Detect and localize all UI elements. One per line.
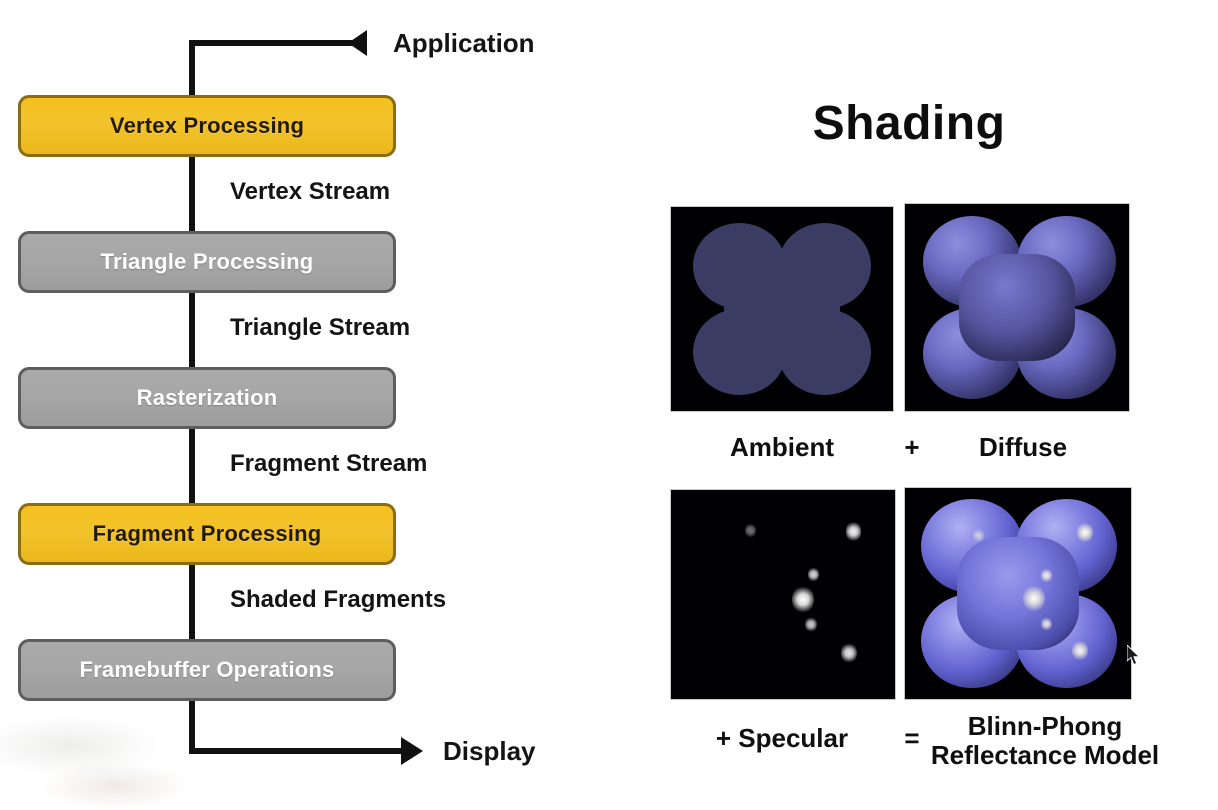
shading-section: Shading xyxy=(620,0,1218,798)
stage-rasterization[interactable]: Rasterization xyxy=(18,367,396,429)
stream-label-shaded-fragments: Shaded Fragments xyxy=(230,586,446,614)
stream-label-triangle: Triangle Stream xyxy=(230,314,410,342)
stage-label: Fragment Processing xyxy=(93,521,322,547)
stage-label: Triangle Processing xyxy=(101,249,314,275)
caption-specular: + Specular xyxy=(660,723,904,754)
ambient-blob-shape xyxy=(671,207,893,411)
render-panel-ambient xyxy=(670,206,894,412)
stage-label: Framebuffer Operations xyxy=(79,657,334,683)
stream-label-vertex: Vertex Stream xyxy=(230,178,390,206)
render-panel-blinn-phong xyxy=(904,487,1132,700)
stage-label: Rasterization xyxy=(137,385,278,411)
application-label: Application xyxy=(393,28,535,59)
application-connector-line xyxy=(189,40,364,46)
display-connector-line xyxy=(189,748,405,754)
video-overlay-smudge xyxy=(0,716,160,776)
stage-framebuffer-operations[interactable]: Framebuffer Operations xyxy=(18,639,396,701)
graphics-pipeline-diagram: Application Display Vertex Processing Tr… xyxy=(0,0,620,798)
application-arrowhead-icon xyxy=(348,30,367,56)
mouse-pointer-icon xyxy=(1127,645,1143,667)
video-overlay-smudge xyxy=(40,762,190,810)
blinn-phong-highlights xyxy=(905,488,1131,699)
stage-fragment-processing[interactable]: Fragment Processing xyxy=(18,503,396,565)
display-arrowhead-icon xyxy=(401,737,423,765)
diffuse-blob-shape xyxy=(905,204,1129,411)
display-label: Display xyxy=(443,736,536,767)
render-panel-specular xyxy=(670,489,896,700)
caption-blinn-phong: Blinn-Phong Reflectance Model xyxy=(920,712,1170,770)
render-panel-diffuse xyxy=(904,203,1130,412)
stage-triangle-processing[interactable]: Triangle Processing xyxy=(18,231,396,293)
stream-label-fragment: Fragment Stream xyxy=(230,450,427,478)
caption-ambient: Ambient xyxy=(670,432,894,463)
specular-highlights xyxy=(671,490,895,699)
stage-label: Vertex Processing xyxy=(110,113,304,139)
caption-diffuse: Diffuse xyxy=(916,432,1130,463)
caption-blinn-line-1: Blinn-Phong xyxy=(920,712,1170,741)
stage-vertex-processing[interactable]: Vertex Processing xyxy=(18,95,396,157)
caption-blinn-line-2: Reflectance Model xyxy=(920,741,1170,770)
shading-title: Shading xyxy=(620,96,1198,151)
